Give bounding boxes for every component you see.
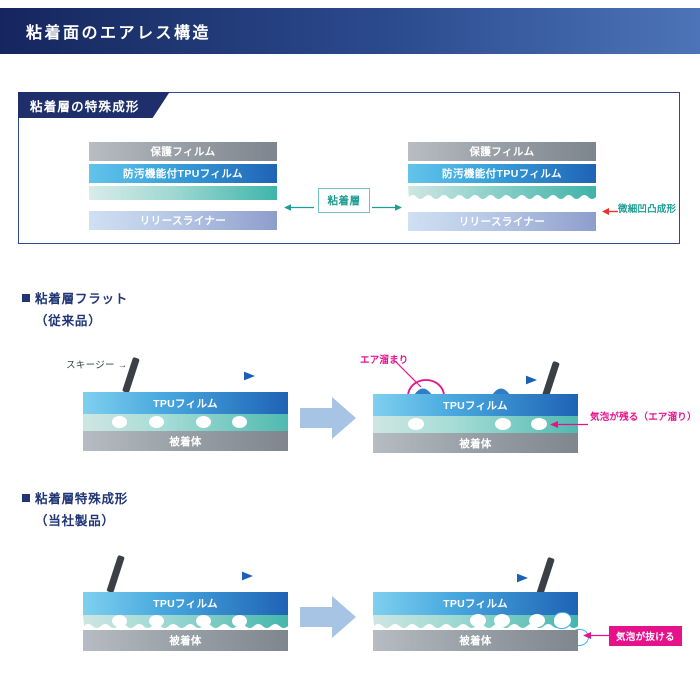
flow-arrow-1-icon bbox=[300, 395, 356, 446]
tpu-film-block: TPUフィルム bbox=[83, 592, 288, 615]
arrow-to-left-stack-icon bbox=[284, 199, 314, 208]
application-direction-arrow-icon bbox=[140, 568, 253, 578]
substrate-block: 被着体 bbox=[373, 630, 578, 651]
bubble-escape-arrow-icon bbox=[583, 631, 609, 640]
air-bubble bbox=[112, 416, 127, 428]
layer-protective-film: 保護フィルム bbox=[89, 142, 277, 161]
bubble-escape-label: 気泡が抜ける bbox=[609, 626, 682, 646]
micro-texture-arrow-icon bbox=[602, 203, 618, 212]
layer-release-liner: リリースライナー bbox=[408, 212, 596, 231]
air-bubble bbox=[495, 418, 511, 430]
layer-protective-film: 保護フィルム bbox=[408, 142, 596, 161]
layer-adhesive-textured bbox=[408, 186, 596, 205]
adhesive-block-flat bbox=[373, 416, 578, 433]
layer-tpu-film: 防汚機能付TPUフィルム bbox=[408, 164, 596, 183]
tpu-film-block: TPUフィルム bbox=[373, 394, 578, 416]
layer-adhesive-flat bbox=[89, 186, 277, 200]
trapped-air-arrow-icon bbox=[550, 420, 588, 429]
air-bubble bbox=[232, 416, 247, 428]
air-bubble bbox=[149, 416, 164, 428]
air-bubble bbox=[408, 418, 424, 430]
micro-texture-label: 微細凹凸成形 bbox=[618, 201, 676, 215]
air-bubble bbox=[232, 615, 247, 627]
substrate-block: 被着体 bbox=[373, 433, 578, 453]
trapped-air-label: 気泡が残る（エア溜り） bbox=[590, 409, 697, 423]
section-2-subheading: （当社製品） bbox=[35, 510, 115, 529]
section-1-heading: 粘着層フラット bbox=[22, 288, 128, 307]
square-bullet-icon bbox=[22, 294, 30, 302]
layer-stack-flat: 保護フィルム 防汚機能付TPUフィルム リリースライナー bbox=[89, 142, 277, 233]
air-bubble bbox=[196, 416, 211, 428]
arrow-to-right-stack-icon bbox=[372, 199, 402, 208]
section-2-heading: 粘着層特殊成形 bbox=[22, 488, 128, 507]
air-bubble bbox=[531, 418, 547, 430]
card-tab-label: 粘着層の特殊成形 bbox=[18, 92, 170, 118]
adhesive-layer-callout: 粘着層 bbox=[318, 188, 370, 213]
tpu-film-block: TPUフィルム bbox=[373, 592, 578, 615]
section-1-subheading: （従来品） bbox=[35, 310, 102, 329]
squeegee-label: スキージー → bbox=[66, 357, 128, 371]
page-title: 粘着面のエアレス構造 bbox=[26, 19, 211, 43]
page-header-bar: 粘着面のエアレス構造 bbox=[0, 8, 700, 54]
air-bubble bbox=[494, 614, 510, 627]
layer-release-liner: リリースライナー bbox=[89, 211, 277, 230]
layer-stack-textured: 保護フィルム 防汚機能付TPUフィルム リリースライナー bbox=[408, 142, 596, 234]
air-bubble bbox=[196, 615, 211, 627]
squeegee-blade-icon bbox=[106, 555, 124, 593]
air-bubble bbox=[529, 614, 545, 627]
air-bubble bbox=[112, 615, 127, 627]
tpu-film-block: TPUフィルム bbox=[83, 392, 288, 414]
air-bubble bbox=[149, 615, 164, 627]
application-direction-arrow-icon bbox=[432, 372, 537, 382]
layer-tpu-film: 防汚機能付TPUフィルム bbox=[89, 164, 277, 183]
air-bubble bbox=[470, 614, 486, 627]
substrate-block: 被着体 bbox=[83, 431, 288, 451]
application-direction-arrow-icon bbox=[415, 570, 528, 580]
flow-arrow-2-icon bbox=[300, 594, 356, 645]
diagram-page: 粘着面のエアレス構造 粘着層の特殊成形 保護フィルム 防汚機能付TPUフィルム … bbox=[0, 0, 700, 700]
square-bullet-icon bbox=[22, 494, 30, 502]
application-direction-arrow-icon bbox=[150, 368, 255, 378]
substrate-block: 被着体 bbox=[83, 630, 288, 651]
